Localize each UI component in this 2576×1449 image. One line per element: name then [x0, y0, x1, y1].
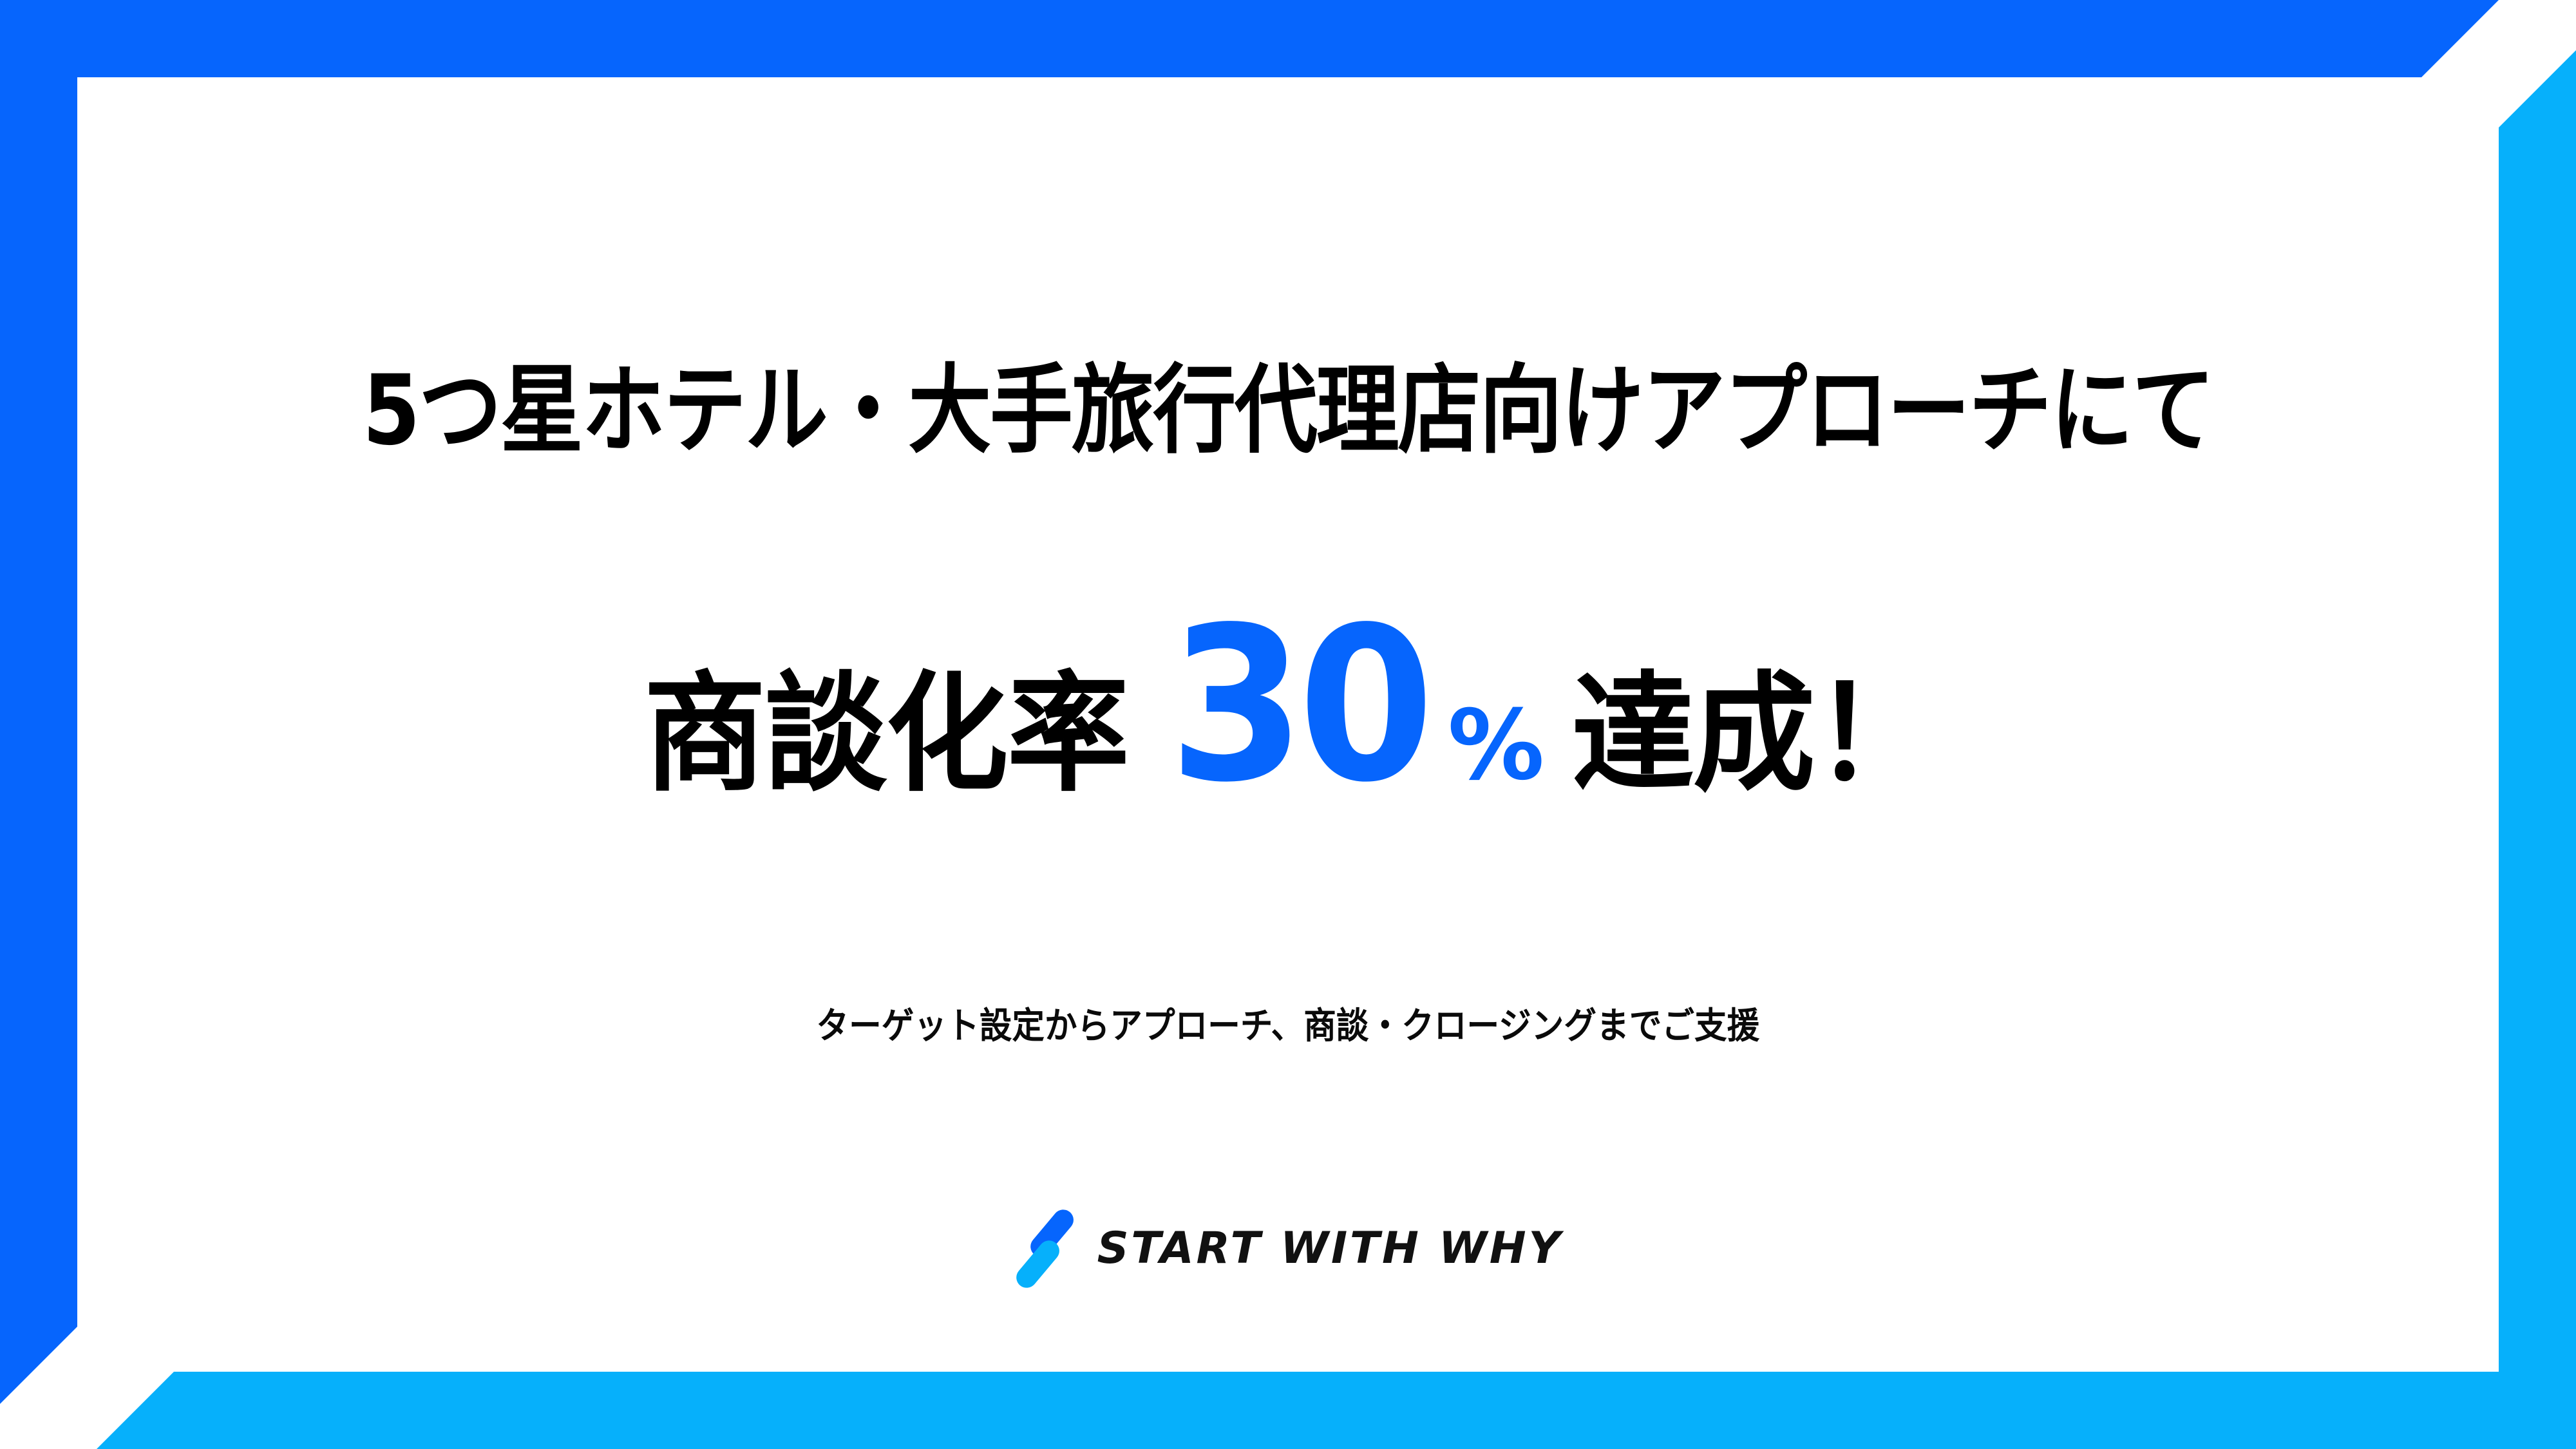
metric-unit: % — [1448, 697, 1544, 794]
page-title: 5つ星ホテル・大手旅行代理店向けアプローチにて — [363, 361, 2213, 462]
start-with-why-s-mark-icon — [1014, 1209, 1075, 1288]
brand-wordmark: START WITH WHY — [1097, 1227, 1563, 1271]
metric-value: 30 — [1169, 599, 1427, 811]
slide-canvas: 5つ星ホテル・大手旅行代理店向けアプローチにて 商談化率 30 % 達成！ ター… — [0, 0, 2576, 1449]
metric-suffix-label: 達成！ — [1572, 670, 1935, 799]
brand-logo-lockup: START WITH WHY — [1014, 1209, 1563, 1288]
metric-prefix-label: 商談化率 — [644, 670, 1128, 799]
key-metric-line: 商談化率 30 % 達成！ — [631, 599, 1945, 811]
subtitle-text: ターゲット設定からアプローチ、商談・クロージングまでご支援 — [817, 997, 1760, 1049]
slide-content: 5つ星ホテル・大手旅行代理店向けアプローチにて 商談化率 30 % 達成！ ター… — [0, 0, 2576, 1449]
